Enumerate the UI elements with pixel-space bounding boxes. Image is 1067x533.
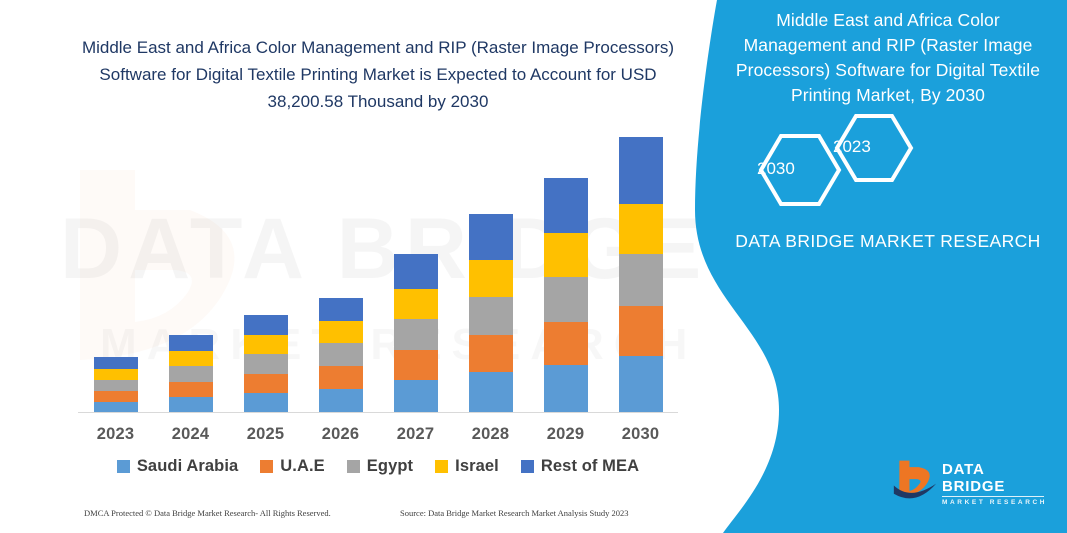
stacked-bar <box>619 137 663 413</box>
legend-swatch-icon <box>260 460 273 473</box>
chart-legend: Saudi ArabiaU.A.EEgyptIsraelRest of MEA <box>78 452 678 480</box>
legend-item-u-a-e[interactable]: U.A.E <box>260 457 325 476</box>
stacked-bar <box>544 178 588 413</box>
stacked-bar <box>319 298 363 413</box>
footer-source: Source: Data Bridge Market Research Mark… <box>400 508 629 518</box>
x-axis-label-2030: 2030 <box>603 425 678 444</box>
x-axis-labels: 20232024202520262027202820292030 <box>78 425 678 444</box>
bar-column-2023 <box>78 120 153 413</box>
stacked-bar <box>394 254 438 413</box>
bar-segment-rest-of-mea <box>619 137 663 204</box>
data-bridge-logo-icon <box>892 457 938 503</box>
bar-segment-rest-of-mea <box>469 214 513 260</box>
legend-swatch-icon <box>117 460 130 473</box>
bar-segment-egypt <box>619 254 663 306</box>
x-axis-label-2028: 2028 <box>453 425 528 444</box>
stacked-bar <box>94 357 138 413</box>
bar-segment-israel <box>169 351 213 366</box>
brand-logo-line1: DATA BRIDGE <box>942 461 1052 495</box>
x-axis-label-2024: 2024 <box>153 425 228 444</box>
legend-label: Rest of MEA <box>541 457 639 476</box>
bar-segment-rest-of-mea <box>544 178 588 233</box>
bar-segment-israel <box>94 369 138 380</box>
bar-segment-u-a-e <box>469 335 513 372</box>
bar-segment-israel <box>394 289 438 319</box>
bar-segment-egypt <box>469 297 513 335</box>
x-axis-label-2025: 2025 <box>228 425 303 444</box>
bar-segment-egypt <box>394 319 438 350</box>
legend-label: Saudi Arabia <box>137 457 238 476</box>
bar-segment-israel <box>244 335 288 354</box>
bar-segment-egypt <box>94 380 138 391</box>
x-axis-label-2023: 2023 <box>78 425 153 444</box>
panel-title: Middle East and Africa Color Management … <box>729 8 1047 108</box>
legend-item-saudi-arabia[interactable]: Saudi Arabia <box>117 457 238 476</box>
legend-swatch-icon <box>435 460 448 473</box>
bar-segment-u-a-e <box>394 350 438 380</box>
bar-column-2027 <box>378 120 453 413</box>
stacked-bar <box>469 214 513 413</box>
bar-segment-rest-of-mea <box>394 254 438 289</box>
legend-item-israel[interactable]: Israel <box>435 457 499 476</box>
bar-column-2025 <box>228 120 303 413</box>
brand-logo: DATA BRIDGE MARKET RESEARCH <box>892 457 1052 509</box>
chart-plot-area <box>78 120 678 413</box>
bar-segment-saudi-arabia <box>394 380 438 413</box>
bar-segment-egypt <box>319 343 363 366</box>
bar-segment-u-a-e <box>169 382 213 397</box>
legend-swatch-icon <box>521 460 534 473</box>
bar-column-2030 <box>603 120 678 413</box>
stacked-bar <box>169 335 213 413</box>
legend-item-rest-of-mea[interactable]: Rest of MEA <box>521 457 639 476</box>
bar-segment-saudi-arabia <box>619 356 663 413</box>
bar-column-2024 <box>153 120 228 413</box>
panel-brand-name: DATA BRIDGE MARKET RESEARCH <box>729 228 1047 254</box>
brand-logo-line2: MARKET RESEARCH <box>942 497 1052 508</box>
bar-segment-egypt <box>544 277 588 322</box>
bar-column-2026 <box>303 120 378 413</box>
bar-column-2029 <box>528 120 603 413</box>
bar-segment-saudi-arabia <box>319 389 363 413</box>
stacked-bar <box>244 315 288 413</box>
hexagon-badges: 2030 2023 <box>729 112 1047 208</box>
bar-segment-u-a-e <box>319 366 363 389</box>
bar-segment-saudi-arabia <box>544 365 588 413</box>
bar-segment-saudi-arabia <box>244 393 288 413</box>
footer-copyright: DMCA Protected © Data Bridge Market Rese… <box>84 508 331 518</box>
bar-segment-israel <box>319 321 363 343</box>
x-axis-label-2026: 2026 <box>303 425 378 444</box>
bar-segment-u-a-e <box>544 322 588 365</box>
bar-segment-israel <box>544 233 588 277</box>
bar-segment-saudi-arabia <box>169 397 213 413</box>
bar-segment-rest-of-mea <box>169 335 213 351</box>
x-axis-label-2027: 2027 <box>378 425 453 444</box>
bar-group <box>78 120 678 413</box>
legend-label: Egypt <box>367 457 413 476</box>
x-axis-line <box>78 412 678 413</box>
brand-logo-text: DATA BRIDGE MARKET RESEARCH <box>942 461 1052 508</box>
poster-canvas: DATA BRIDGE MARKET RESEARCH Middle East … <box>0 0 1067 533</box>
chart-title: Middle East and Africa Color Management … <box>78 34 678 115</box>
bar-segment-rest-of-mea <box>94 357 138 369</box>
legend-label: Israel <box>455 457 499 476</box>
bar-segment-u-a-e <box>619 306 663 356</box>
footer: DMCA Protected © Data Bridge Market Rese… <box>0 508 720 530</box>
bar-segment-u-a-e <box>244 374 288 393</box>
bar-segment-rest-of-mea <box>319 298 363 321</box>
bar-segment-israel <box>619 204 663 254</box>
legend-swatch-icon <box>347 460 360 473</box>
bar-segment-egypt <box>244 354 288 374</box>
legend-label: U.A.E <box>280 457 325 476</box>
legend-item-egypt[interactable]: Egypt <box>347 457 413 476</box>
bar-segment-israel <box>469 260 513 297</box>
bar-segment-egypt <box>169 366 213 382</box>
bar-segment-saudi-arabia <box>469 372 513 413</box>
x-axis-label-2029: 2029 <box>528 425 603 444</box>
bar-segment-u-a-e <box>94 391 138 402</box>
brand-panel: Middle East and Africa Color Management … <box>687 0 1067 533</box>
bar-segment-rest-of-mea <box>244 315 288 335</box>
bar-column-2028 <box>453 120 528 413</box>
